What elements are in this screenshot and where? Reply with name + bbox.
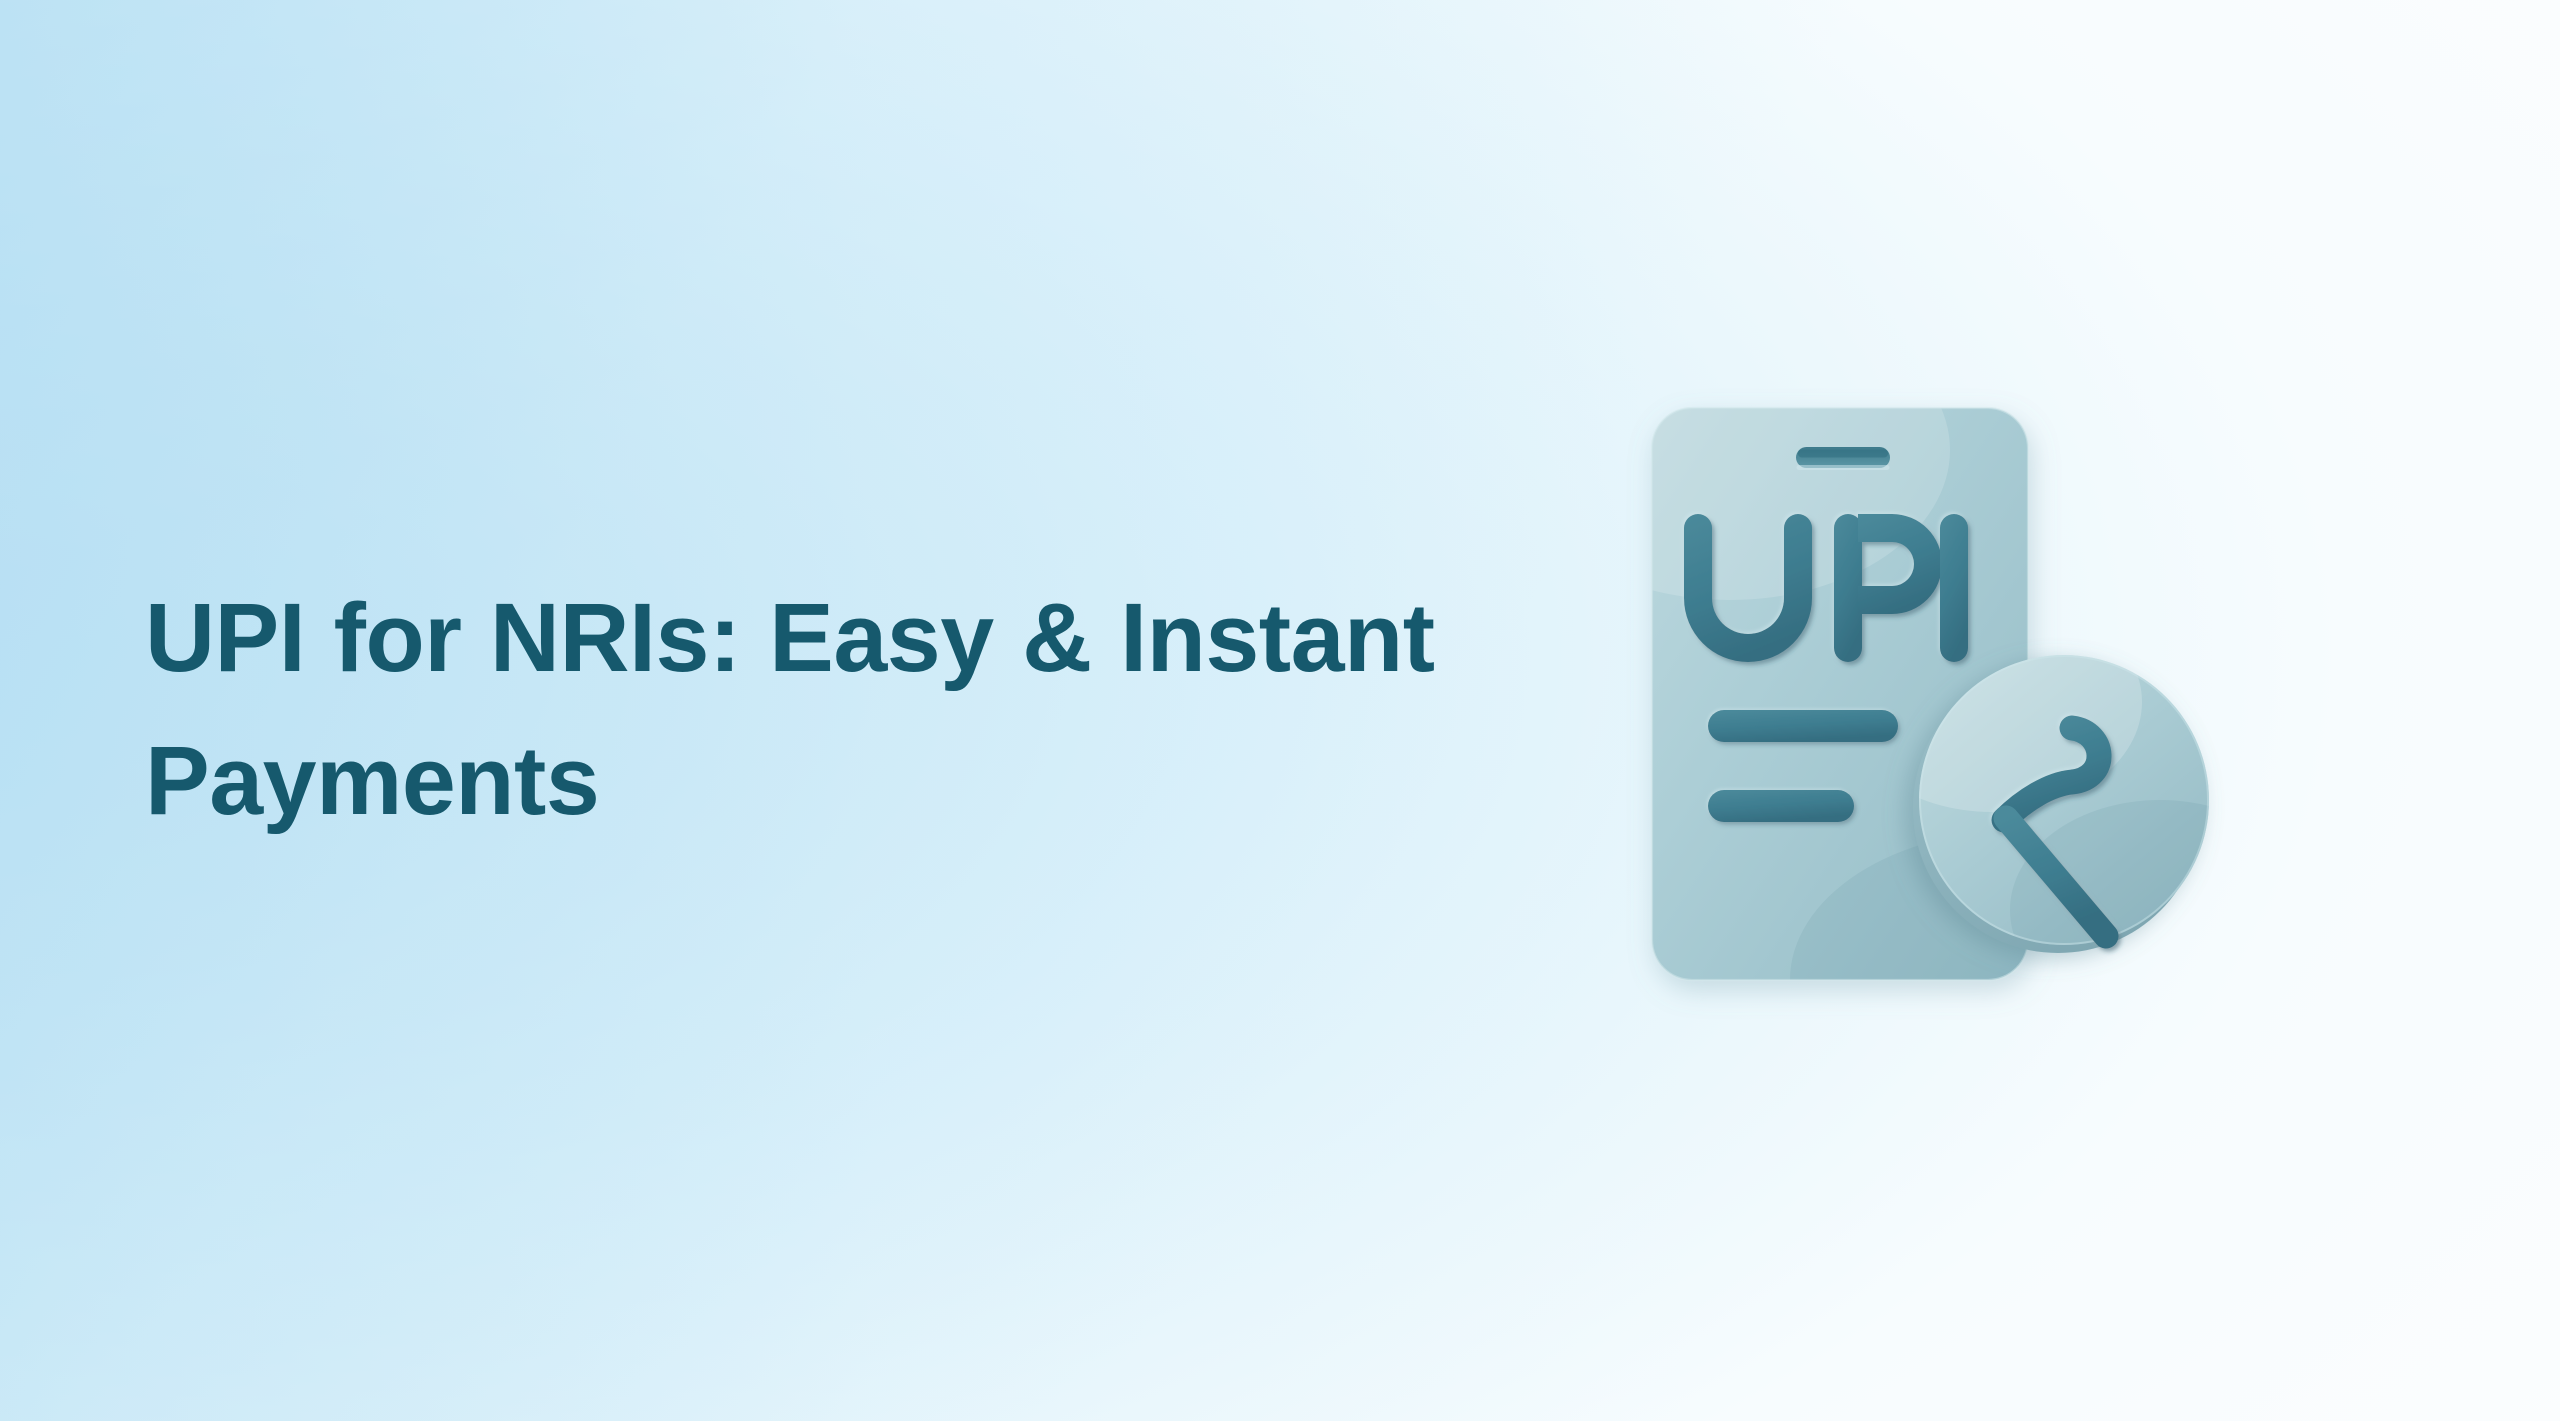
upi-illustration-svg	[1620, 380, 2260, 1020]
hero-copy-block: UPI for NRIs: Easy & Instant Payments	[145, 566, 1565, 852]
hero-banner: UPI for NRIs: Easy & Instant Payments	[0, 0, 2560, 1421]
upi-payment-illustration	[1620, 380, 2260, 1020]
text-line-2	[1708, 790, 1854, 822]
text-line-1	[1708, 710, 1898, 742]
page-title: UPI for NRIs: Easy & Instant Payments	[145, 566, 1565, 852]
letter-p-stem	[1834, 514, 1862, 662]
speaker-slot-icon	[1796, 447, 1890, 470]
letter-i	[1940, 514, 1968, 662]
